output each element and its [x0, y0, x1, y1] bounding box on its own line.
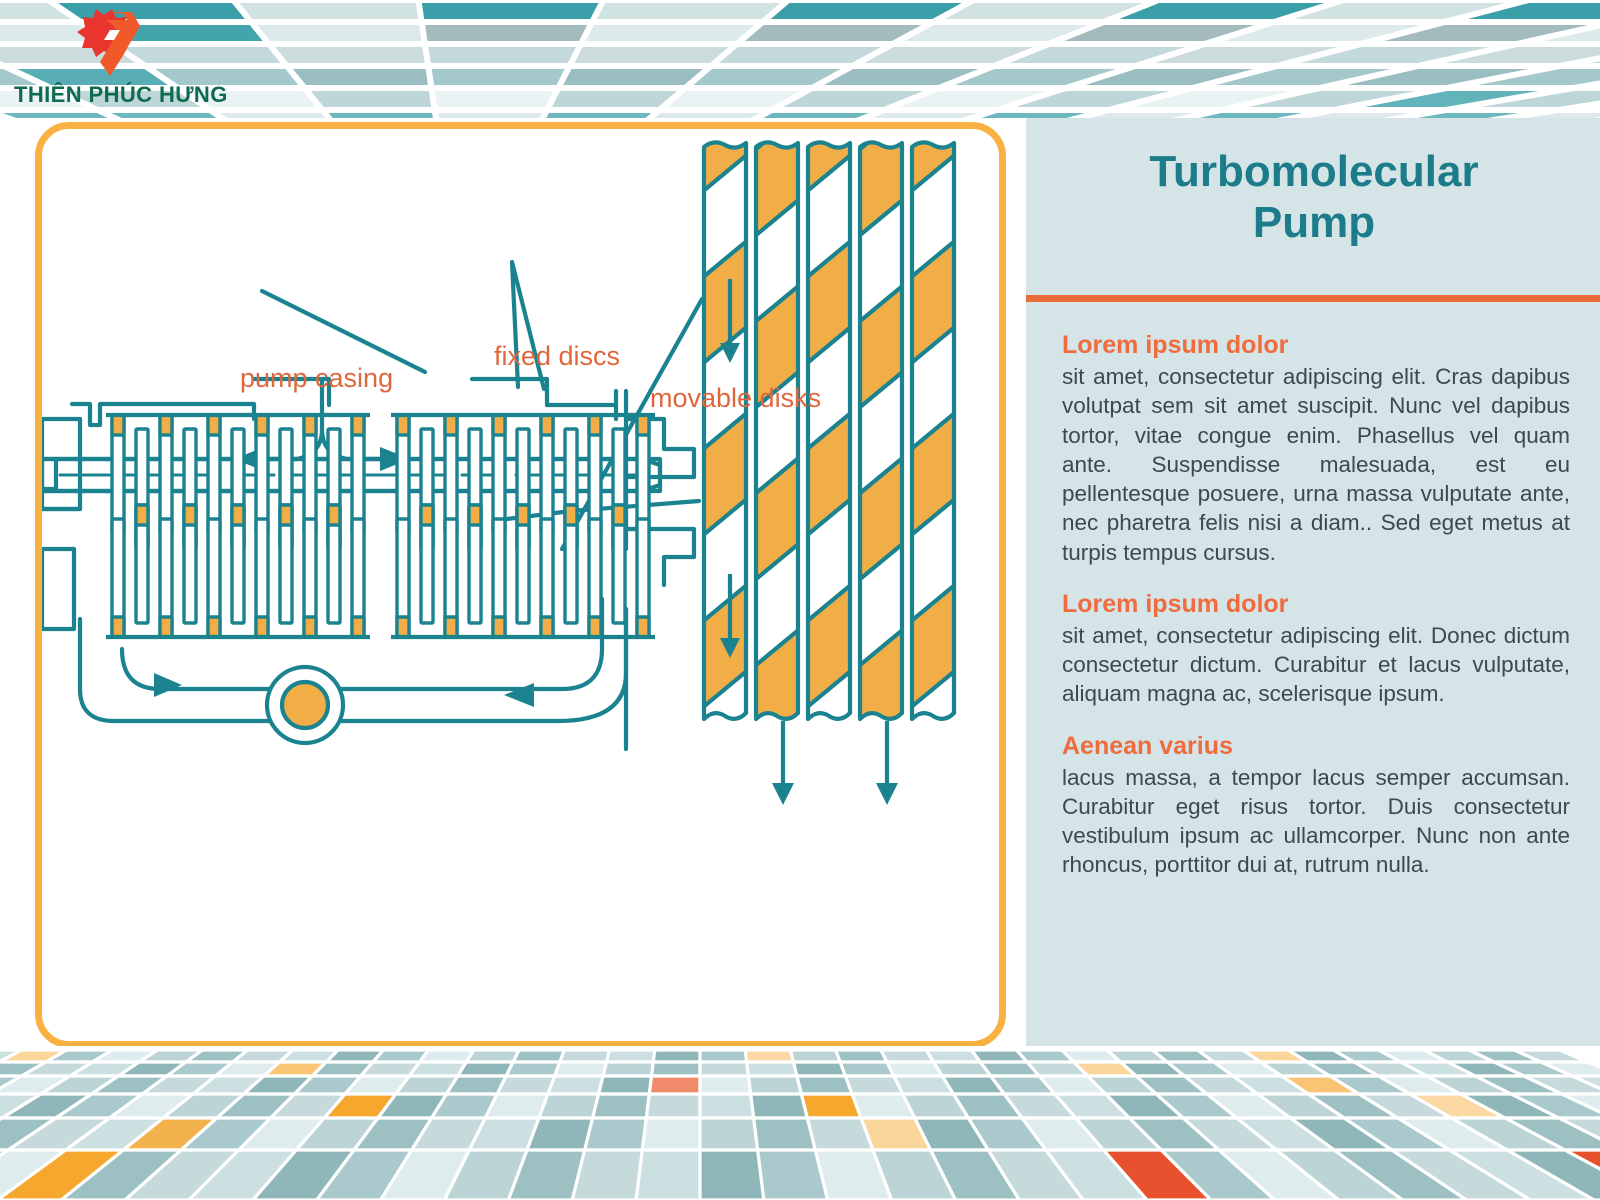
turbomolecular-pump-diagram: pump casingfixed discsmovable disks [42, 129, 1013, 1055]
blade-cascade-detail [696, 129, 962, 930]
label-fixed-discs: fixed discs [494, 341, 620, 371]
diagram-card: pump casingfixed discsmovable disks [35, 122, 1006, 1048]
label-movable-disks: movable disks [650, 383, 821, 413]
rotor-bearing [267, 667, 343, 743]
section-2-body: sit amet, consectetur adipiscing elit. D… [1062, 621, 1570, 709]
section-2-heading: Lorem ipsum dolor [1062, 589, 1570, 619]
page-title: Turbomolecular Pump [1064, 146, 1564, 248]
section-1-heading: Lorem ipsum dolor [1062, 330, 1570, 360]
brand-wordmark: THIÊN PHÚC HƯNG [14, 82, 228, 108]
page-title-line-1: Turbomolecular [1064, 146, 1564, 197]
section-3-body: lacus massa, a tempor lacus semper accum… [1062, 763, 1570, 880]
info-panel: Turbomolecular Pump Lorem ipsum dolor si… [1026, 118, 1600, 1200]
section-1-body: sit amet, consectetur adipiscing elit. C… [1062, 362, 1570, 567]
leader-pump-casing [262, 291, 425, 372]
section-1: Lorem ipsum dolor sit amet, consectetur … [1062, 330, 1570, 567]
section-2: Lorem ipsum dolor sit amet, consectetur … [1062, 589, 1570, 709]
title-divider [1026, 295, 1600, 302]
page-title-line-2: Pump [1064, 197, 1564, 248]
section-3-heading: Aenean varius [1062, 731, 1570, 761]
panel-body: Lorem ipsum dolor sit amet, consectetur … [1062, 330, 1570, 902]
section-3: Aenean varius lacus massa, a tempor lacu… [1062, 731, 1570, 880]
brand-logo: THIÊN PHÚC HƯNG [8, 4, 288, 116]
gear-hexagon-logo-icon [66, 6, 142, 78]
label-pump-casing: pump casing [240, 363, 393, 393]
